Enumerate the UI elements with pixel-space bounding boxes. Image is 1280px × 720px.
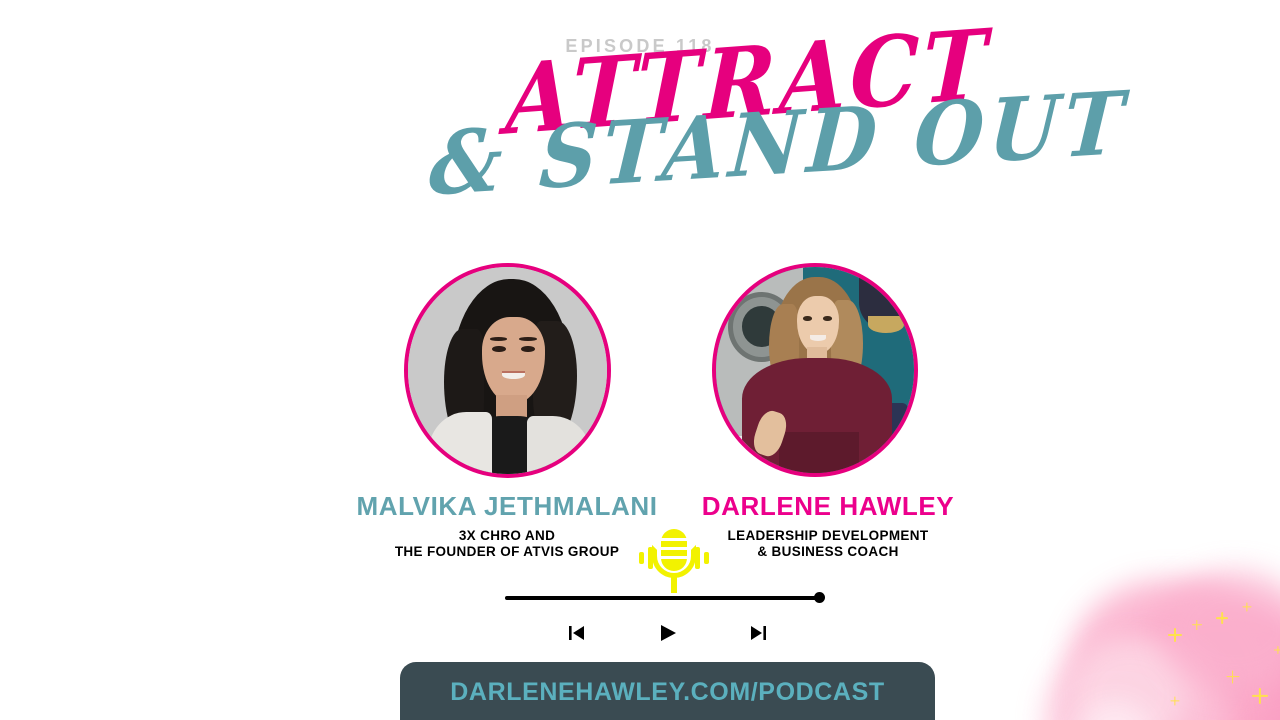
skip-back-icon[interactable]: [560, 620, 594, 646]
show-title-wordmark: ATTRACT & STAND OUT: [0, 46, 1280, 221]
sparkle-icon: [1274, 646, 1280, 654]
guest-portraits: [0, 263, 1280, 481]
sparkle-icon: [1242, 602, 1251, 611]
watercolor-decoration: [1020, 500, 1280, 720]
sparkle-icon: [1216, 612, 1228, 624]
playback-controls: [560, 618, 775, 648]
audio-progress-bar[interactable]: [505, 595, 823, 601]
skip-forward-icon[interactable]: [741, 620, 775, 646]
sparkle-icon: [1252, 688, 1268, 704]
avatar-malvika-jethmalani: [404, 263, 611, 478]
sparkle-icon: [1192, 620, 1202, 630]
avatar-darlene-hawley: [712, 263, 918, 477]
podcast-episode-graphic: EPISODE 118 ATTRACT & STAND OUT: [0, 0, 1280, 720]
podcast-url-button[interactable]: DARLENEHAWLEY.COM/PODCAST: [400, 662, 935, 720]
photo-malvika-jethmalani: [408, 267, 607, 474]
podcast-url-label: DARLENEHAWLEY.COM/PODCAST: [450, 678, 884, 707]
progress-track[interactable]: [505, 596, 823, 600]
sparkle-icon: [1226, 670, 1239, 683]
microphone-icon: [639, 527, 709, 593]
play-icon[interactable]: [651, 620, 685, 646]
photo-darlene-hawley: [716, 267, 914, 473]
guest-name-darlene-hawley: DARLENE HAWLEY: [634, 491, 1022, 522]
sparkle-icon: [1168, 628, 1182, 642]
sparkle-icon: [1170, 696, 1179, 705]
progress-knob[interactable]: [814, 592, 825, 603]
